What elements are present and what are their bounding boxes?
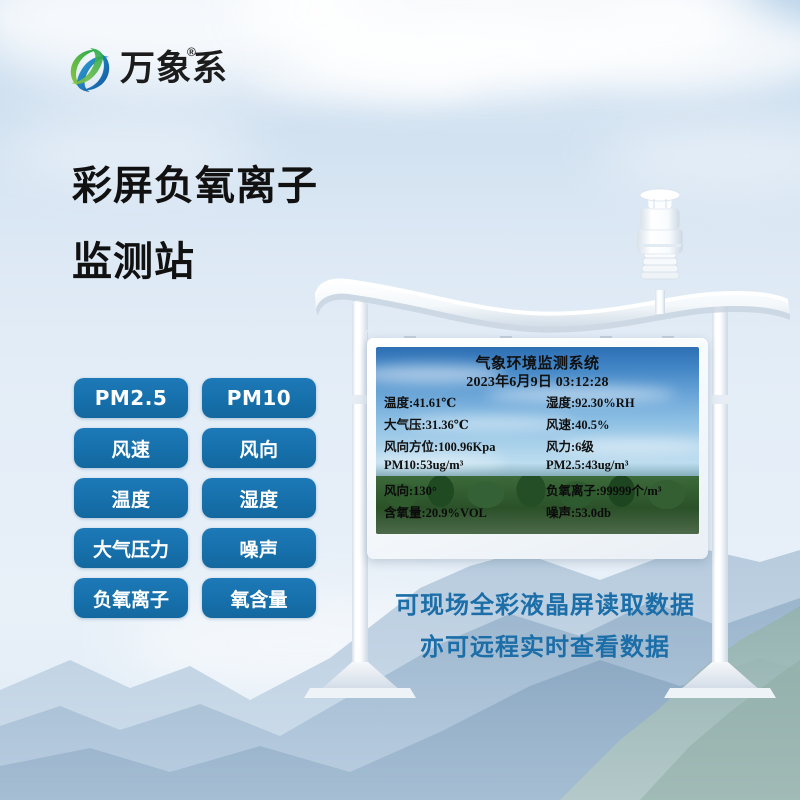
display-reading: 负氧离子:99999个/m³	[546, 480, 662, 499]
display-reading: 风力:6级	[546, 436, 594, 455]
display-reading: 风速:40.5%	[546, 414, 610, 433]
brand-logo: 万象系 ®	[64, 42, 244, 98]
display-reading: 风向方位:100.96Kpa	[384, 436, 495, 455]
pill-pm25[interactable]: PM2.5	[74, 378, 188, 418]
registered-trademark-icon: ®	[187, 45, 196, 59]
caption-line-2: 亦可远程实时查看数据	[390, 626, 700, 668]
weather-sensor	[637, 189, 683, 314]
pill-humidity[interactable]: 湿度	[202, 478, 316, 518]
pill-row: 大气压力 噪声	[74, 528, 324, 568]
display-reading: 噪声:53.0db	[546, 502, 611, 521]
pill-noise[interactable]: 噪声	[202, 528, 316, 568]
pill-oxygen-content[interactable]: 氧含量	[202, 578, 316, 618]
display-reading: PM10:53ug/m³	[384, 458, 463, 473]
feature-pill-list: PM2.5 PM10 风速 风向 温度 湿度 大气压力 噪声 负氧离子 氧含量	[74, 378, 324, 628]
pill-pm10[interactable]: PM10	[202, 378, 316, 418]
pill-row: 风速 风向	[74, 428, 324, 468]
globe-swoosh-logo-icon	[64, 44, 116, 96]
caption-line-1: 可现场全彩液晶屏读取数据	[390, 584, 700, 626]
pill-row: 负氧离子 氧含量	[74, 578, 324, 618]
brand-name: 万象系	[120, 46, 228, 92]
display-datetime: 2023年6月9日 03:12:28	[376, 371, 699, 391]
pill-row: PM2.5 PM10	[74, 378, 324, 418]
caption-block: 可现场全彩液晶屏读取数据 亦可远程实时查看数据	[390, 584, 700, 668]
pill-air-pressure[interactable]: 大气压力	[74, 528, 188, 568]
display-reading: 含氧量:20.9%VOL	[384, 502, 487, 521]
pill-temperature[interactable]: 温度	[74, 478, 188, 518]
display-reading: 温度:41.61℃	[384, 392, 456, 411]
display-reading: 风向:130°	[384, 480, 437, 499]
poster-canvas: 气象环境监测系统 2023年6月9日 03:12:28 温度:41.61℃ 湿度…	[0, 0, 800, 800]
lcd-screen-content: 气象环境监测系统 2023年6月9日 03:12:28 温度:41.61℃ 湿度…	[376, 347, 699, 534]
pill-wind-speed[interactable]: 风速	[74, 428, 188, 468]
display-reading: 大气压:31.36℃	[384, 414, 469, 433]
headline-line-2: 监测站	[72, 224, 402, 300]
headline-line-1: 彩屏负氧离子	[72, 148, 402, 224]
display-title: 气象环境监测系统	[376, 352, 699, 373]
display-reading: 湿度:92.30%RH	[546, 392, 635, 411]
page-title: 彩屏负氧离子 监测站	[72, 148, 402, 300]
lcd-display-panel: 气象环境监测系统 2023年6月9日 03:12:28 温度:41.61℃ 湿度…	[367, 338, 708, 559]
pill-row: 温度 湿度	[74, 478, 324, 518]
pill-negative-oxygen-ion[interactable]: 负氧离子	[74, 578, 188, 618]
display-reading: PM2.5:43ug/m³	[546, 458, 629, 473]
pill-wind-direction[interactable]: 风向	[202, 428, 316, 468]
